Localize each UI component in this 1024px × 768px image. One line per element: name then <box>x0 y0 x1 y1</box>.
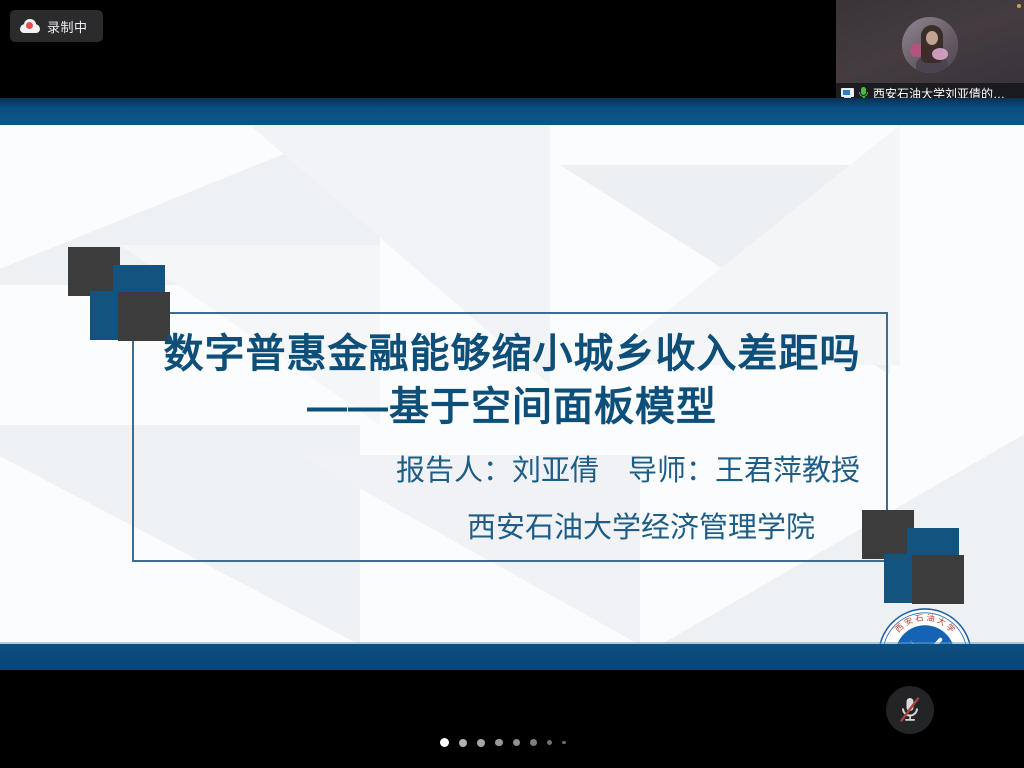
decorative-squares-bottom-right <box>862 510 960 604</box>
mute-button[interactable] <box>886 686 934 734</box>
page-dot[interactable] <box>513 739 521 747</box>
shared-slide: 数字普惠金融能够缩小城乡收入差距吗 ——基于空间面板模型 报告人：刘亚倩 导师：… <box>0 98 1024 670</box>
page-dot[interactable] <box>530 739 537 746</box>
microphone-muted-icon <box>897 695 923 725</box>
recording-dot-icon <box>26 22 33 29</box>
page-indicator-dots[interactable] <box>440 738 566 747</box>
slide-top-band <box>0 98 1024 125</box>
slide-presenter: 报告人：刘亚倩 导师：王君萍教授 <box>150 453 860 491</box>
participant-avatar <box>902 17 958 73</box>
thumbnail-status-dot <box>1017 4 1021 8</box>
screen-share-meeting-view: 录制中 西安石油大学刘亚倩的… <box>0 0 1024 768</box>
page-dot[interactable] <box>547 740 552 745</box>
participant-video-thumbnail[interactable]: 西安石油大学刘亚倩的… <box>836 0 1024 104</box>
decorative-squares-top-left <box>68 247 166 341</box>
slide-subtitle: ——基于空间面板模型 <box>150 381 874 433</box>
page-dot[interactable] <box>477 739 485 747</box>
page-dot[interactable] <box>459 739 467 747</box>
page-dot-active[interactable] <box>440 738 449 747</box>
slide-canvas: 数字普惠金融能够缩小城乡收入差距吗 ——基于空间面板模型 报告人：刘亚倩 导师：… <box>0 125 1024 644</box>
recording-label: 录制中 <box>47 17 88 36</box>
slide-bottom-band <box>0 644 1024 670</box>
xian-shiyou-university-logo: 1951 西 安 石 油 大 学 XI'AN SHIYOU UNIVERSITY <box>877 607 973 644</box>
slide-affiliation: 西安石油大学经济管理学院 <box>150 510 815 548</box>
page-dot[interactable] <box>562 741 566 745</box>
slide-title: 数字普惠金融能够缩小城乡收入差距吗 <box>150 328 874 381</box>
recording-badge: 录制中 <box>10 10 103 42</box>
recording-cloud-icon <box>20 19 40 33</box>
page-dot[interactable] <box>495 739 503 747</box>
